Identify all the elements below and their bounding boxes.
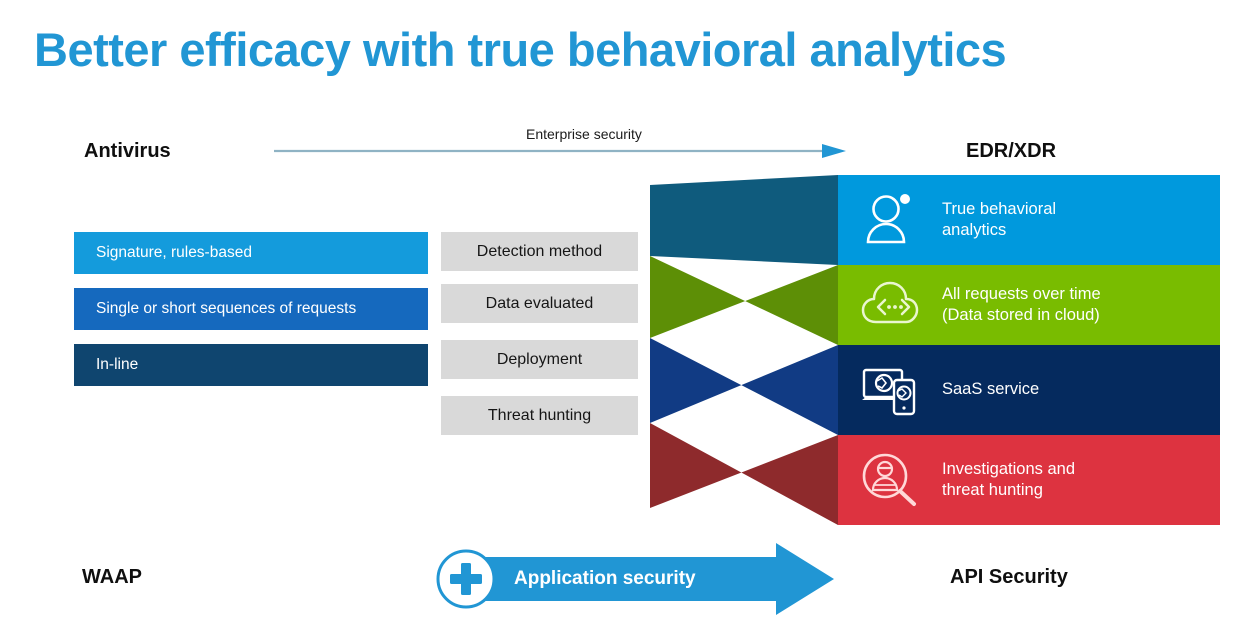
category-label: Deployment — [497, 351, 582, 369]
left-bar-label: Signature, rules-based — [96, 244, 252, 262]
axis-right-label: EDR/XDR — [966, 140, 1056, 163]
capability-line: All requests over time — [942, 284, 1101, 305]
capability-band-behavioral-analytics[interactable]: True behavioral analytics — [838, 175, 1220, 265]
axis-left-label: Antivirus — [84, 140, 171, 163]
category-threat-hunting[interactable]: Threat hunting — [441, 396, 638, 435]
capability-band-all-requests[interactable]: All requests over time (Data stored in c… — [838, 265, 1220, 345]
category-label: Data evaluated — [486, 295, 594, 313]
saas-devices-icon — [852, 364, 928, 416]
capability-band-text: True behavioral analytics — [942, 199, 1056, 241]
left-attribute-bar-requests[interactable]: Single or short sequences of requests — [74, 288, 428, 330]
person-icon — [852, 192, 928, 248]
category-label: Detection method — [477, 243, 602, 261]
application-security-label: Application security — [514, 568, 696, 590]
category-data-evaluated[interactable]: Data evaluated — [441, 284, 638, 323]
category-label: Threat hunting — [488, 407, 591, 425]
enterprise-security-arrow-icon — [274, 142, 846, 160]
capability-line: Investigations and — [942, 459, 1075, 480]
capability-band-text: SaaS service — [942, 379, 1039, 400]
footer-left-label: WAAP — [82, 566, 142, 589]
footer-right-label: API Security — [950, 566, 1068, 589]
left-attribute-bar-inline[interactable]: In-line — [74, 344, 428, 386]
capability-line: threat hunting — [942, 480, 1075, 501]
cloud-code-icon — [852, 280, 928, 330]
capability-line: analytics — [942, 220, 1056, 241]
capability-band-saas-service[interactable]: SaaS service — [838, 345, 1220, 435]
plus-circle-icon — [438, 551, 494, 607]
magnifier-person-icon — [852, 452, 928, 508]
capability-line: (Data stored in cloud) — [942, 305, 1101, 326]
left-bar-label: Single or short sequences of requests — [96, 300, 356, 318]
left-bar-label: In-line — [96, 356, 138, 374]
left-attribute-bar-signature[interactable]: Signature, rules-based — [74, 232, 428, 274]
category-deployment[interactable]: Deployment — [441, 340, 638, 379]
category-detection-method[interactable]: Detection method — [441, 232, 638, 271]
capability-band-text: All requests over time (Data stored in c… — [942, 284, 1101, 326]
capability-band-investigations[interactable]: Investigations and threat hunting — [838, 435, 1220, 525]
page-title: Better efficacy with true behavioral ana… — [34, 22, 1006, 77]
enterprise-security-caption: Enterprise security — [526, 126, 642, 142]
capability-line: SaaS service — [942, 379, 1039, 400]
capability-line: True behavioral — [942, 199, 1056, 220]
capability-band-text: Investigations and threat hunting — [942, 459, 1075, 501]
